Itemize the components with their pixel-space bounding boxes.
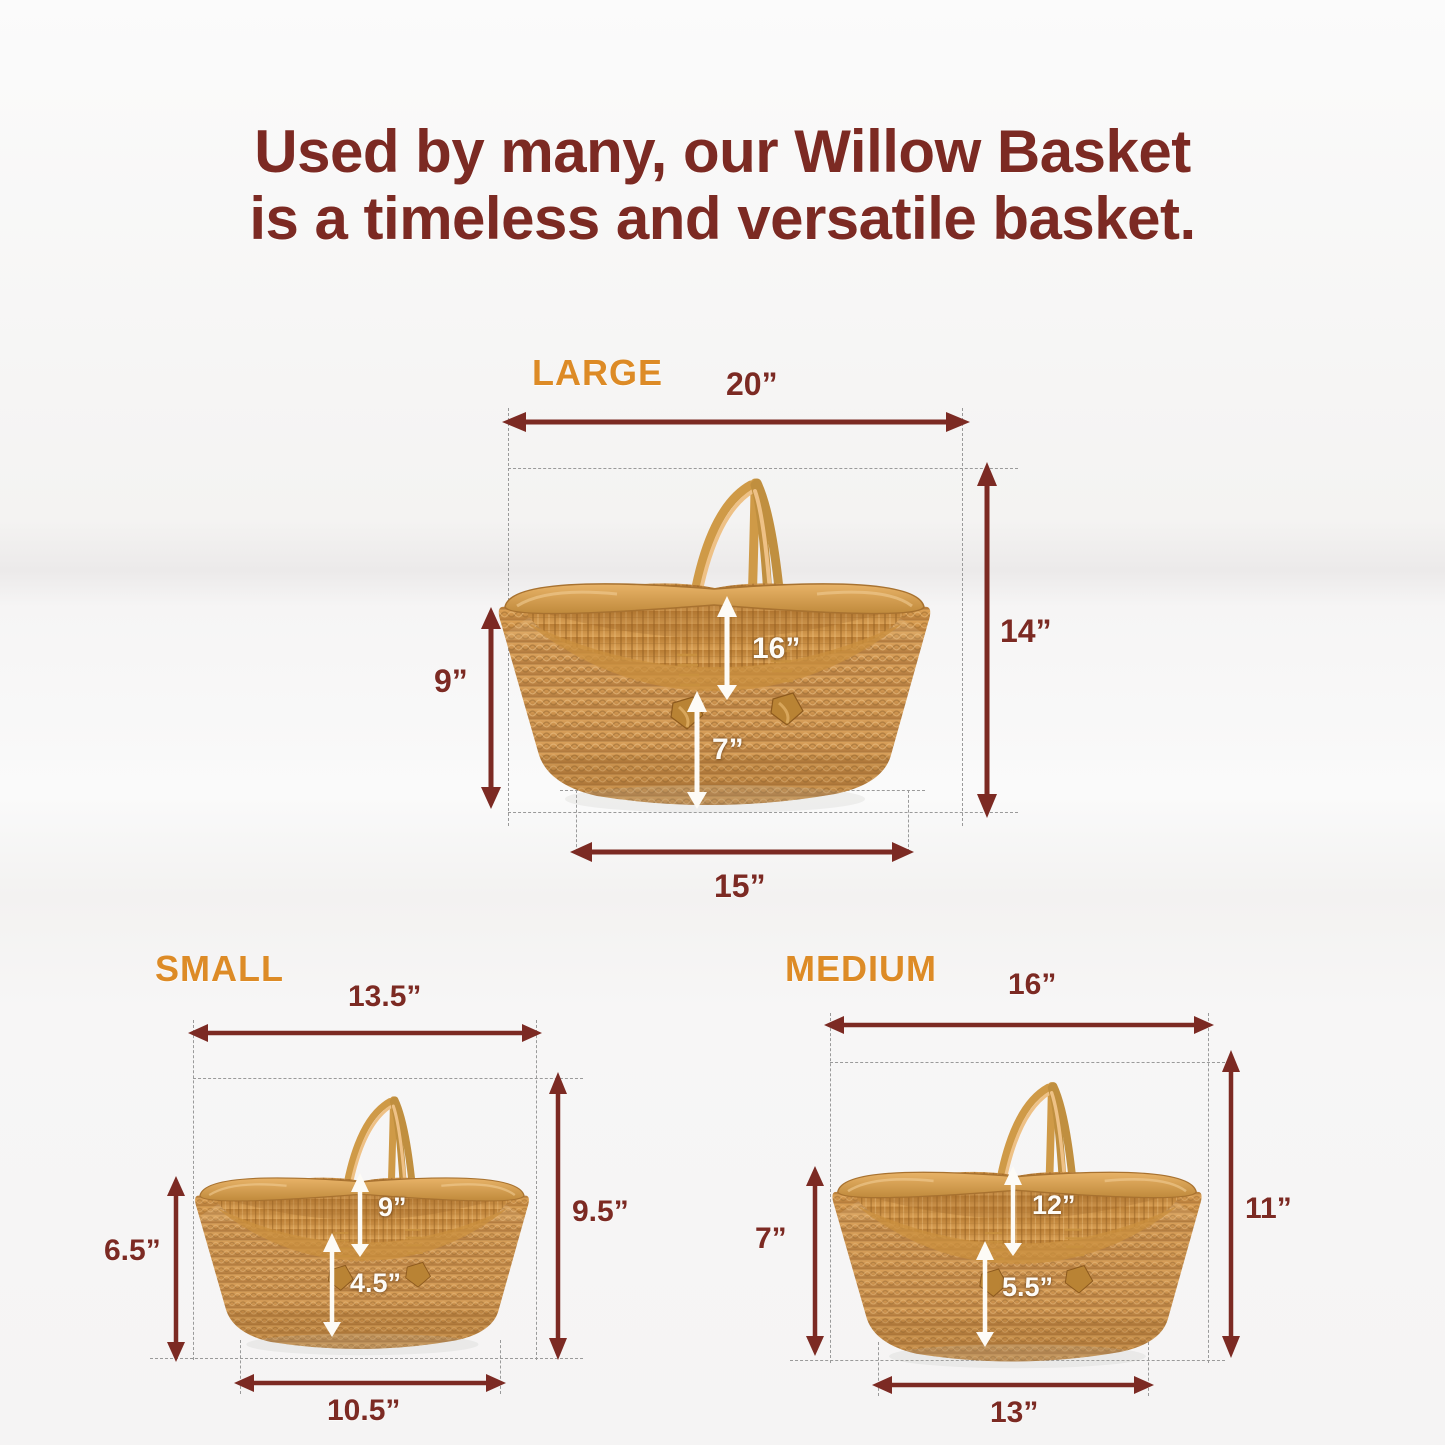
size-label-small: SMALL xyxy=(155,948,284,990)
small-base-width-arrow xyxy=(232,1372,508,1394)
medium-top-width-value: 16” xyxy=(1008,968,1056,1002)
size-label-medium: MEDIUM xyxy=(785,948,937,990)
small-side-height-value: 6.5” xyxy=(104,1234,161,1268)
medium-base-width-arrow xyxy=(870,1374,1156,1396)
large-interior-depth-value: 7” xyxy=(712,733,744,767)
small-total-height-value: 9.5” xyxy=(572,1195,629,1229)
large-base-width-value: 15” xyxy=(714,868,766,905)
medium-total-height-arrow xyxy=(1220,1048,1242,1360)
small-top-width-value: 13.5” xyxy=(348,980,421,1014)
large-top-width-arrow xyxy=(500,410,972,434)
medium-interior-depth-value: 5.5” xyxy=(1002,1272,1053,1303)
large-total-height-arrow xyxy=(975,460,999,820)
small-handle-height-arrow xyxy=(350,1172,370,1258)
headline-line-1: Used by many, our Willow Basket xyxy=(254,118,1190,185)
product-dimension-infographic: Used by many, our Willow Basket is a tim… xyxy=(0,0,1445,1445)
medium-interior-depth-arrow xyxy=(975,1240,995,1348)
large-base-width-arrow xyxy=(568,840,916,864)
small-top-width-arrow xyxy=(186,1022,544,1044)
large-total-height-value: 14” xyxy=(1000,613,1052,650)
large-interior-depth-arrow xyxy=(686,690,708,810)
small-interior-depth-value: 4.5” xyxy=(350,1268,401,1299)
page-title: Used by many, our Willow Basket is a tim… xyxy=(0,118,1445,252)
medium-handle-height-arrow xyxy=(1003,1165,1023,1257)
small-interior-depth-arrow xyxy=(322,1232,342,1338)
medium-side-height-value: 7” xyxy=(755,1222,787,1256)
large-guide-right xyxy=(962,408,963,826)
small-total-height-arrow xyxy=(547,1070,569,1362)
large-top-width-value: 20” xyxy=(726,366,778,403)
large-side-height-value: 9” xyxy=(434,663,468,700)
size-label-large: LARGE xyxy=(532,352,663,394)
medium-total-height-value: 11” xyxy=(1245,1192,1292,1226)
medium-base-width-value: 13” xyxy=(990,1396,1038,1430)
medium-top-width-arrow xyxy=(822,1014,1216,1036)
medium-handle-height-value: 12” xyxy=(1032,1190,1076,1221)
small-base-width-value: 10.5” xyxy=(327,1394,400,1428)
large-handle-height-value: 16” xyxy=(752,632,800,666)
small-handle-height-value: 9” xyxy=(378,1192,407,1223)
small-side-height-arrow xyxy=(165,1174,187,1364)
large-handle-height-arrow xyxy=(716,595,738,701)
headline-line-2: is a timeless and versatile basket. xyxy=(0,185,1445,252)
